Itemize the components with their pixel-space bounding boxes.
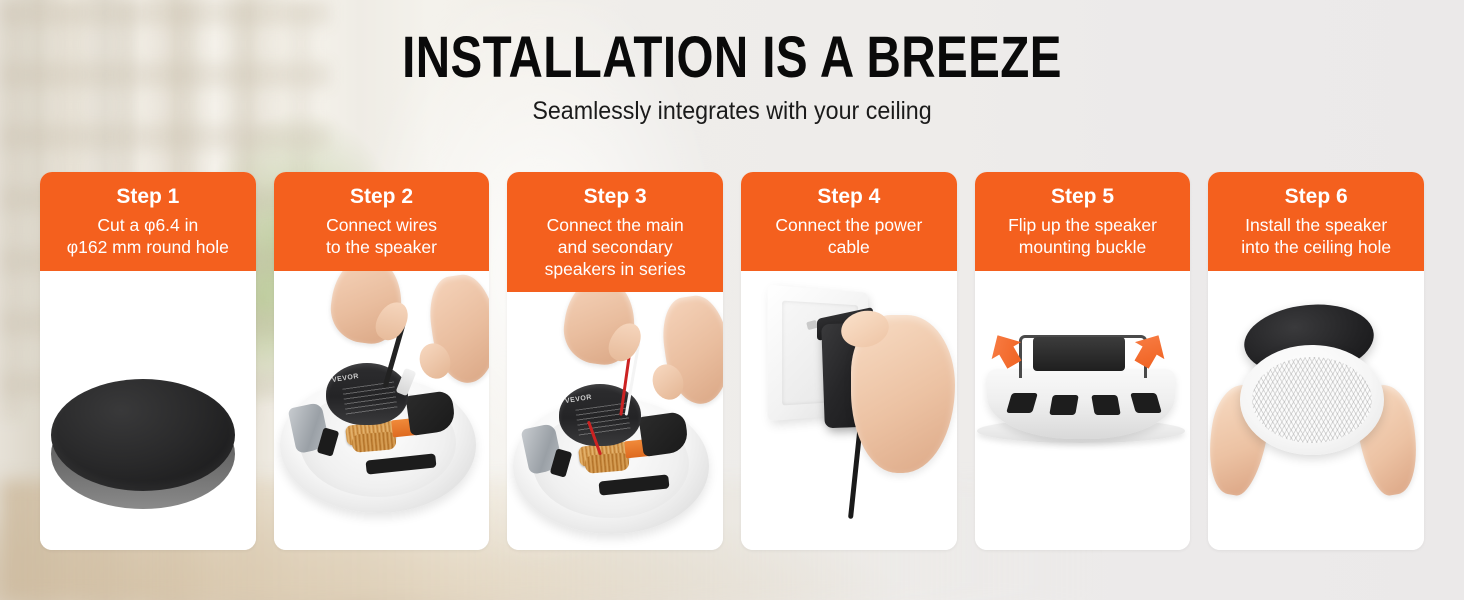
speaker-vent-icon-3 — [1091, 395, 1121, 415]
page-subtitle: Seamlessly integrates with your ceiling — [51, 96, 1413, 126]
step-2-title: Step 2 — [282, 184, 482, 209]
step-card-3: Step 3 Connect the main and secondary sp… — [507, 172, 723, 550]
step-3-description-line-3: speakers in series — [515, 258, 715, 280]
step-4-title: Step 4 — [749, 184, 949, 209]
step-3-description-line-2: and secondary — [515, 236, 715, 258]
step-6-image — [1208, 271, 1424, 550]
step-2-image: VEVOR — [274, 271, 490, 550]
step-3-description: Connect the main and secondary speakers … — [515, 214, 715, 280]
speaker-magnet-icon: VEVOR — [326, 363, 408, 425]
step-5-description: Flip up the speaker mounting buckle — [983, 214, 1183, 258]
step-2-description: Connect wires to the speaker — [282, 214, 482, 258]
speaker-wiring-illustration: VEVOR — [274, 271, 490, 550]
steps-row: Step 1 Cut a φ6.4 in φ162 mm round hole … — [40, 172, 1424, 550]
installation-steps-banner: INSTALLATION IS A BREEZE Seamlessly inte… — [0, 0, 1464, 600]
speaker-top-block-icon — [1033, 337, 1125, 371]
step-1-title: Step 1 — [48, 184, 248, 209]
step-4-header: Step 4 Connect the power cable — [741, 172, 957, 271]
step-4-description-line-1: Connect the power — [749, 214, 949, 236]
speaker-vent-icon-1 — [1006, 393, 1038, 413]
step-card-5: Step 5 Flip up the speaker mounting buck… — [975, 172, 1191, 550]
step-1-description-line-1: Cut a φ6.4 in — [48, 214, 248, 236]
speaker-grille-mesh-icon — [1252, 357, 1372, 443]
banner-headings: INSTALLATION IS A BREEZE Seamlessly inte… — [0, 26, 1464, 126]
step-5-header: Step 5 Flip up the speaker mounting buck… — [975, 172, 1191, 271]
step-3-image: VEVOR — [507, 292, 723, 550]
step-6-description-line-1: Install the speaker — [1216, 214, 1416, 236]
step-card-6: Step 6 Install the speaker into the ceil… — [1208, 172, 1424, 550]
step-3-description-line-1: Connect the main — [515, 214, 715, 236]
round-disc-illustration — [40, 271, 256, 550]
speaker-grille-icon — [1240, 345, 1384, 455]
step-6-description: Install the speaker into the ceiling hol… — [1216, 214, 1416, 258]
step-5-description-line-2: mounting buckle — [983, 236, 1183, 258]
step-4-description: Connect the power cable — [749, 214, 949, 258]
copper-coil-2-icon — [351, 431, 396, 453]
speaker-vent-icon-2 — [1049, 395, 1079, 415]
step-1-description-line-2: φ162 mm round hole — [48, 236, 248, 258]
page-title: INSTALLATION IS A BREEZE — [132, 26, 1332, 90]
step-6-description-line-2: into the ceiling hole — [1216, 236, 1416, 258]
step-2-description-line-2: to the speaker — [282, 236, 482, 258]
series-wiring-illustration: VEVOR — [507, 292, 723, 550]
magnet-spec-text-lines — [342, 382, 397, 417]
step-6-header: Step 6 Install the speaker into the ceil… — [1208, 172, 1424, 271]
step-1-description: Cut a φ6.4 in φ162 mm round hole — [48, 214, 248, 258]
step-6-title: Step 6 — [1216, 184, 1416, 209]
vevor-brand-label: VEVOR — [331, 373, 359, 384]
step-4-image — [741, 271, 957, 550]
step-2-description-line-1: Connect wires — [282, 214, 482, 236]
step-4-description-line-2: cable — [749, 236, 949, 258]
step-2-header: Step 2 Connect wires to the speaker — [274, 172, 490, 271]
step-3-header: Step 3 Connect the main and secondary sp… — [507, 172, 723, 292]
step-5-description-line-1: Flip up the speaker — [983, 214, 1183, 236]
step-3-title: Step 3 — [515, 184, 715, 209]
step-card-4: Step 4 Connect the power cable — [741, 172, 957, 550]
speaker-vent-icon-4 — [1130, 393, 1162, 413]
step-1-header: Step 1 Cut a φ6.4 in φ162 mm round hole — [40, 172, 256, 271]
step-5-image — [975, 271, 1191, 550]
disc-top-icon — [51, 379, 235, 491]
step-card-2: Step 2 Connect wires to the speaker — [274, 172, 490, 550]
vevor-brand-label: VEVOR — [565, 394, 593, 405]
step-1-image — [40, 271, 256, 550]
step-5-title: Step 5 — [983, 184, 1183, 209]
step-card-1: Step 1 Cut a φ6.4 in φ162 mm round hole — [40, 172, 256, 550]
